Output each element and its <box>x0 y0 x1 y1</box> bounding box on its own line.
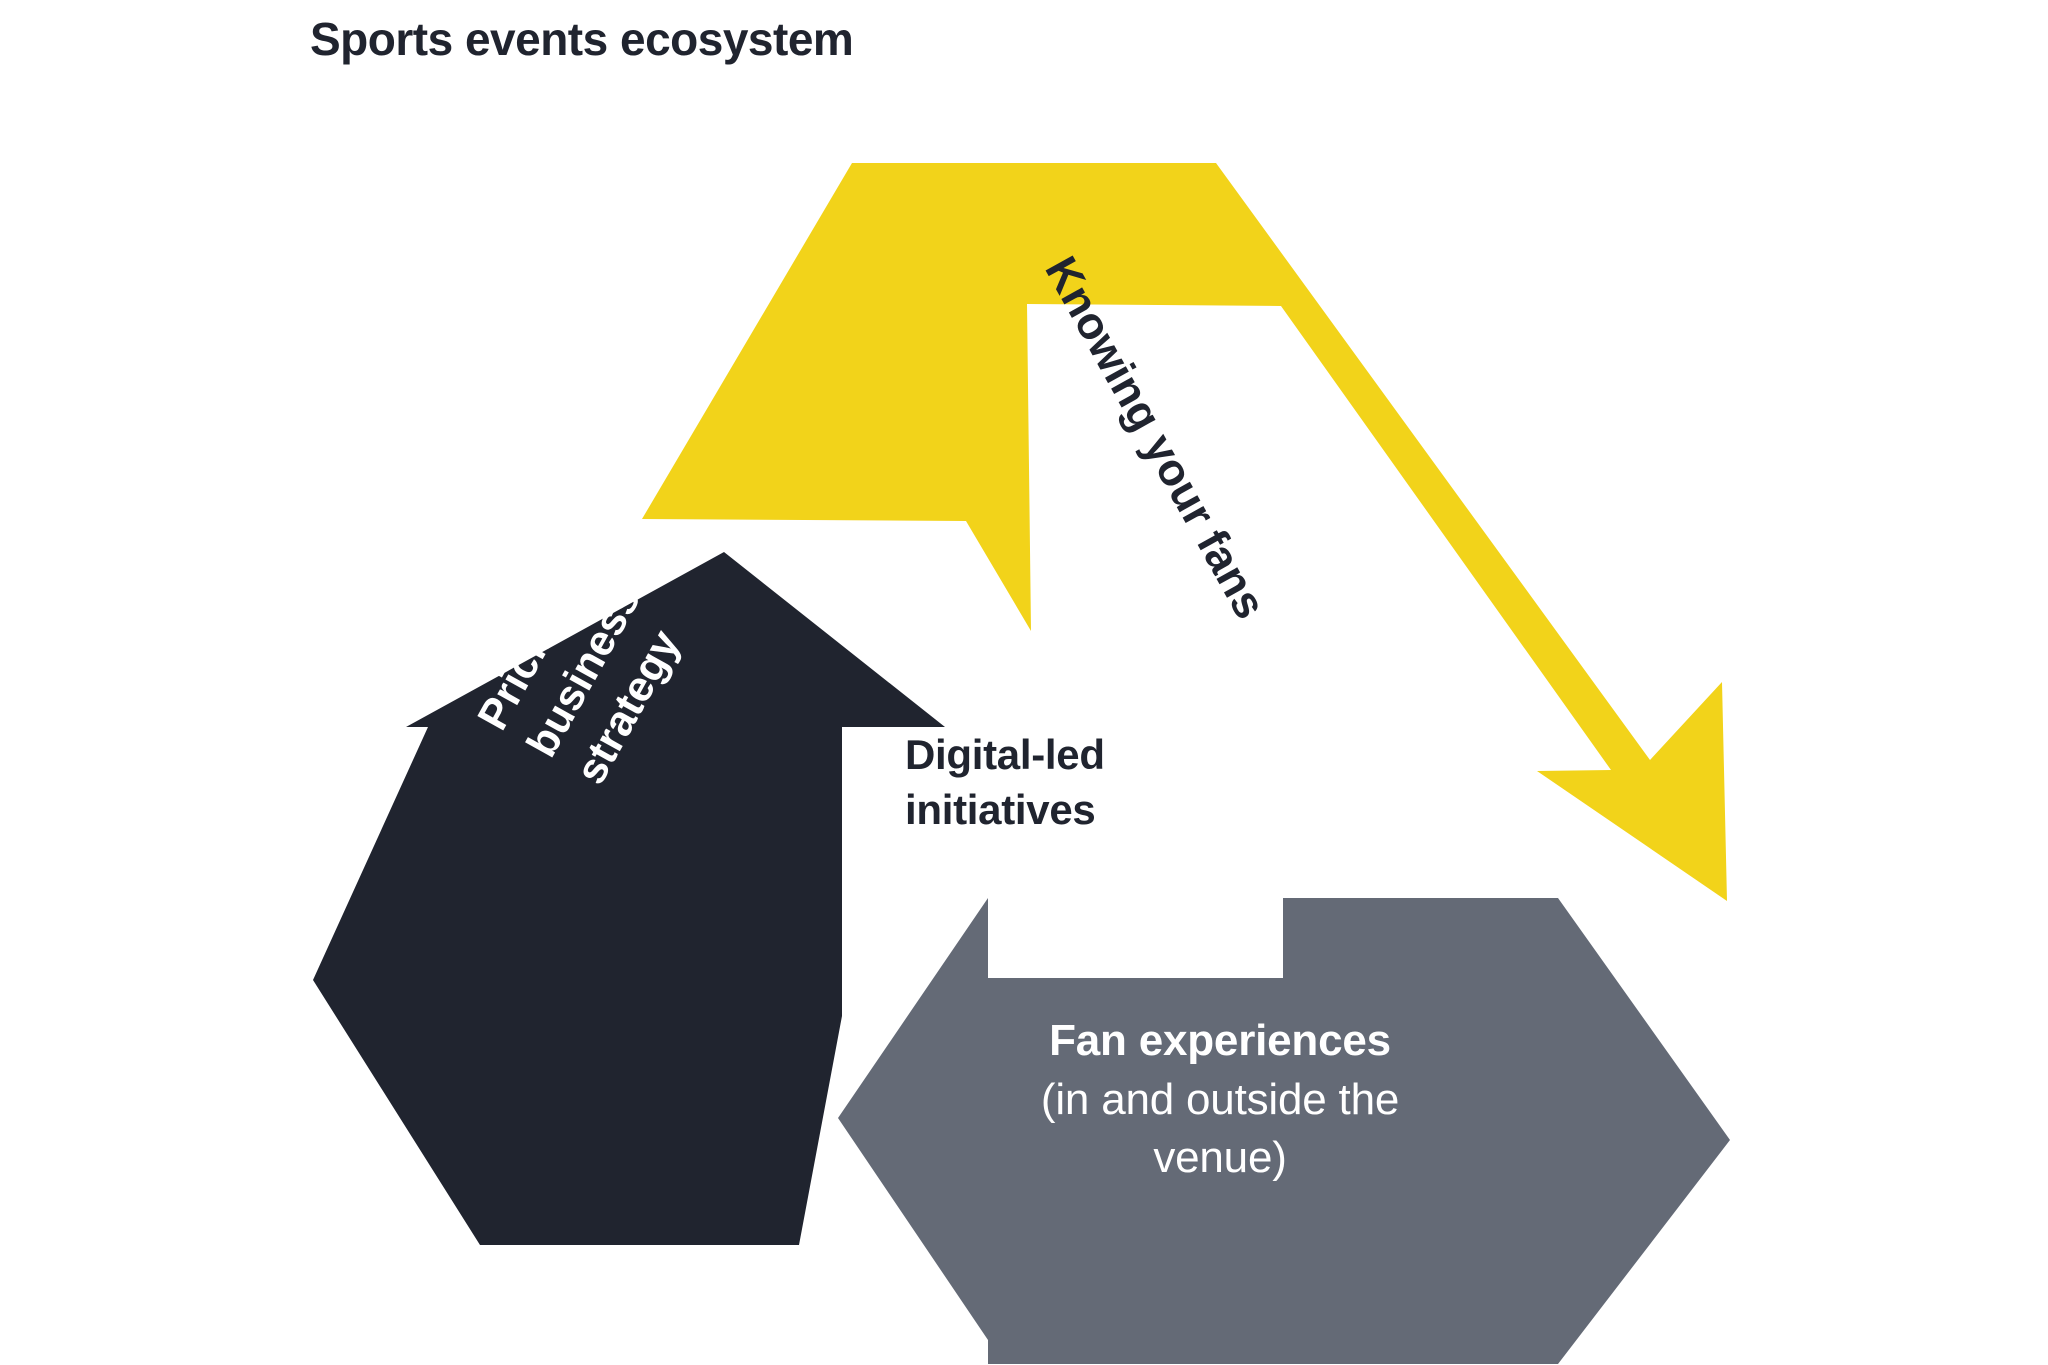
diagram-canvas: Sports events ecosystem Knowing your fan… <box>0 0 2048 1365</box>
fan-experiences-sub-line-1: (in and outside the <box>940 1071 1500 1130</box>
center-label: Digital-led initiatives <box>905 727 1235 838</box>
pricing-strategy-arrow[interactable] <box>313 552 945 1245</box>
center-label-line-2: initiatives <box>905 786 1095 833</box>
center-label-line-1: Digital-led <box>905 731 1105 778</box>
fan-experiences-sub-line-2: venue) <box>940 1129 1500 1188</box>
fan-experiences-title: Fan experiences <box>940 1012 1500 1071</box>
fan-experiences-label: Fan experiences (in and outside the venu… <box>940 1012 1500 1188</box>
